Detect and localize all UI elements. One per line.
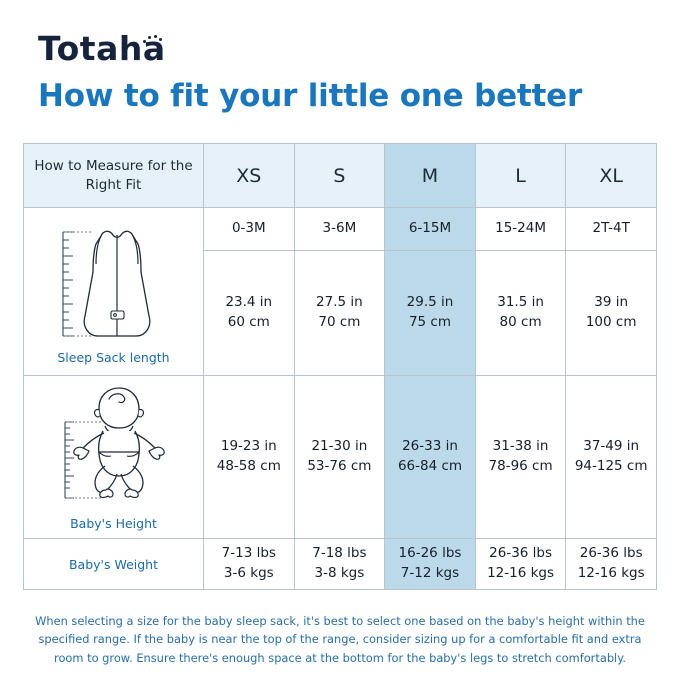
table-header-row: How to Measure for the Right Fit XS S M … <box>24 144 657 208</box>
brand-logo-label: Totah <box>38 29 143 68</box>
cell-age-l: 15-24M <box>475 208 566 251</box>
cell-height-xs: 19-23 in 48-58 cm <box>204 376 295 539</box>
header-size-m[interactable]: M <box>385 144 476 208</box>
page-title: How to fit your little one better <box>38 78 582 114</box>
table-row-age: Sleep Sack length 0-3M 3-6M 6-15M 15-24M… <box>24 208 657 251</box>
cell-length-l: 31.5 in 80 cm <box>475 251 566 376</box>
sleep-sack-illustration-cell: Sleep Sack length <box>24 208 204 376</box>
cell-weight-xl: 26-36 lbs 12-16 kgs <box>566 539 657 590</box>
cell-age-xl: 2T-4T <box>566 208 657 251</box>
header-size-s[interactable]: S <box>294 144 385 208</box>
cell-length-xl: 39 in 100 cm <box>566 251 657 376</box>
size-chart-table-wrap: How to Measure for the Right Fit XS S M … <box>23 143 656 590</box>
header-measure-label: How to Measure for the Right Fit <box>24 144 204 208</box>
cell-height-xl: 37-49 in 94-125 cm <box>566 376 657 539</box>
cell-weight-xs: 7-13 lbs 3-6 kgs <box>204 539 295 590</box>
cell-weight-l: 26-36 lbs 12-16 kgs <box>475 539 566 590</box>
baby-icon <box>39 386 189 514</box>
baby-illustration-cell: Baby's Height <box>24 376 204 539</box>
cell-height-m: 26-33 in 66-84 cm <box>385 376 476 539</box>
sleep-sack-caption: Sleep Sack length <box>57 350 169 365</box>
cell-age-s: 3-6M <box>294 208 385 251</box>
cell-length-s: 27.5 in 70 cm <box>294 251 385 376</box>
babys-weight-label: Baby's Weight <box>24 539 204 590</box>
header-size-xl[interactable]: XL <box>566 144 657 208</box>
brand-logo: Totaha <box>38 26 166 70</box>
footprint-dots-icon <box>142 34 164 46</box>
brand-logo-text: Totaha <box>38 32 166 65</box>
table-row-babys-height: Baby's Height 19-23 in 48-58 cm 21-30 in… <box>24 376 657 539</box>
size-chart-table: How to Measure for the Right Fit XS S M … <box>23 143 657 590</box>
cell-length-xs: 23.4 in 60 cm <box>204 251 295 376</box>
size-chart-page: Totaha How to fit your little one better… <box>0 0 679 679</box>
cell-age-m: 6-15M <box>385 208 476 251</box>
sizing-note: When selecting a size for the baby sleep… <box>24 612 656 667</box>
cell-length-m: 29.5 in 75 cm <box>385 251 476 376</box>
table-row-babys-weight: Baby's Weight 7-13 lbs 3-6 kgs 7-18 lbs … <box>24 539 657 590</box>
cell-weight-m: 16-26 lbs 7-12 kgs <box>385 539 476 590</box>
header-size-l[interactable]: L <box>475 144 566 208</box>
baby-height-caption: Baby's Height <box>70 516 157 531</box>
cell-age-xs: 0-3M <box>204 208 295 251</box>
cell-weight-s: 7-18 lbs 3-8 kgs <box>294 539 385 590</box>
cell-height-s: 21-30 in 53-76 cm <box>294 376 385 539</box>
sleep-sack-icon <box>39 220 189 348</box>
header-size-xs[interactable]: XS <box>204 144 295 208</box>
cell-height-l: 31-38 in 78-96 cm <box>475 376 566 539</box>
